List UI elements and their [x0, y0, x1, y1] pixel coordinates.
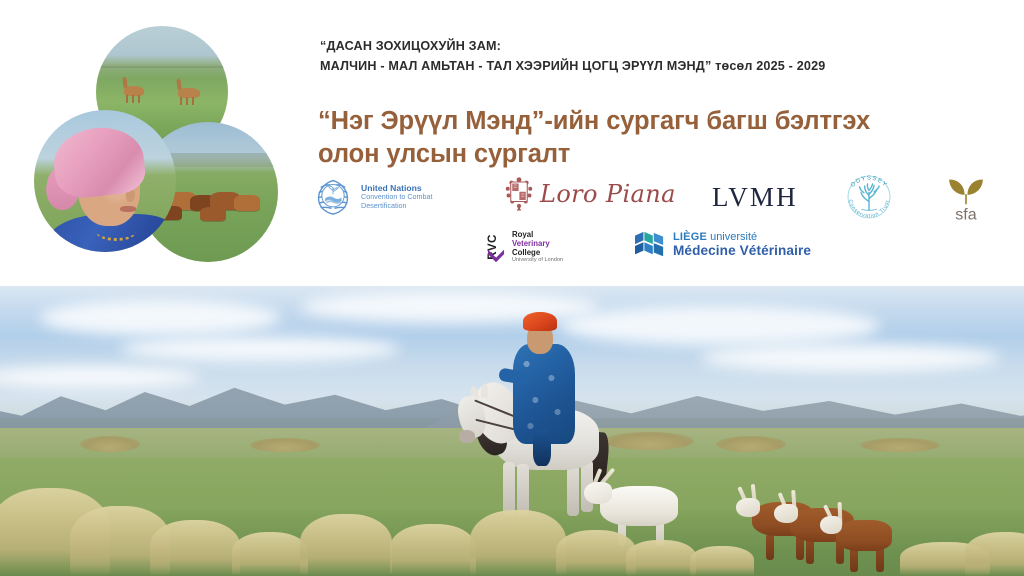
goat-head — [820, 516, 842, 534]
goat-leg — [766, 534, 774, 560]
page-title-line-1: “Нэг Эрүүл Мэнд”-ийн сургагч багш бэлтгэ… — [318, 107, 870, 135]
logo-rvc-line-1: Royal — [512, 230, 563, 239]
gazelle-icon — [124, 86, 144, 96]
grass-tuft — [232, 532, 308, 576]
partner-logos-row-1: United Nations Convention to Combat Dese… — [312, 168, 1012, 226]
lips — [120, 206, 136, 212]
grass-tuft — [470, 510, 566, 576]
logo-royal-veterinary-college: RVC Royal Veterinary College University … — [486, 230, 563, 264]
goat-head — [584, 482, 612, 504]
scrub-bush — [250, 438, 320, 452]
svg-text:sfa: sfa — [955, 206, 976, 224]
logo-rvc-line-4: University of London — [512, 257, 563, 263]
partner-logos-row-2: RVC Royal Veterinary College University … — [486, 226, 826, 272]
horse-leg — [517, 464, 529, 516]
logo-rvc-text: Royal Veterinary College University of L… — [512, 230, 563, 263]
horse-ear — [481, 384, 488, 398]
logo-lvmh-wordmark: LVMH — [712, 182, 798, 213]
logo-loro-piana-wordmark: Loro Piana — [540, 180, 676, 208]
kicker-line-2: МАЛЧИН - МАЛ АМЬТАН - ТАЛ ХЭЭРИЙН ЦОГЦ Э… — [320, 59, 711, 73]
grass-tuft — [965, 532, 1024, 576]
rider-red-headwrap — [523, 312, 557, 331]
horse-leg — [567, 462, 579, 516]
loro-piana-crest-icon — [504, 176, 534, 212]
logo-liege-universite: LIÈGE université Médecine Vétérinaire — [634, 230, 811, 260]
logo-liege-text: LIÈGE université Médecine Vétérinaire — [673, 231, 811, 260]
goat-head — [736, 498, 760, 517]
rider-blue-deel — [513, 344, 575, 444]
cow-icon — [234, 195, 260, 211]
logo-unccd: United Nations Convention to Combat Dese… — [312, 176, 433, 218]
grass-tuft — [556, 530, 636, 576]
scrub-bush — [716, 436, 786, 452]
necklace — [96, 222, 136, 241]
project-kicker: “ДАСАН ЗОХИЦОХУЙН ЗАМ: МАЛЧИН - МАЛ АМЬТ… — [320, 36, 960, 77]
scrub-bush — [80, 436, 140, 452]
cloud — [700, 344, 1000, 372]
logo-unccd-line-3: Desertification — [361, 202, 433, 211]
logo-liege-line-1: LIÈGE université — [673, 231, 811, 244]
page-title: “Нэг Эрүүл Мэнд”-ийн сургагч багш бэлтгэ… — [318, 105, 1008, 171]
collage-circle-herder-woman — [34, 110, 176, 252]
cloud — [120, 336, 400, 362]
page-title-line-2: олон улсын сургалт — [318, 140, 570, 168]
logo-liege-line-2: Médecine Vétérinaire — [673, 243, 811, 259]
svg-text:ODYSSEY: ODYSSEY — [850, 176, 888, 189]
hero-photo — [0, 286, 1024, 576]
cloud — [40, 300, 280, 336]
un-wreath-globe-icon — [312, 176, 354, 218]
goat-body — [836, 520, 892, 551]
cow-icon — [200, 207, 226, 221]
logo-unccd-text: United Nations Convention to Combat Dese… — [361, 183, 433, 211]
logo-sfa: sfa — [940, 170, 992, 224]
pink-headscarf — [51, 123, 148, 200]
logo-lvmh: LVMH — [712, 182, 798, 213]
logo-loro-piana: Loro Piana — [504, 176, 676, 212]
horizon-line — [96, 66, 228, 68]
white-goat — [600, 476, 710, 536]
liege-chevron-icon — [634, 230, 666, 260]
rvc-monogram-icon: RVC — [486, 230, 506, 264]
logo-odyssey-conservation-trust: ODYSSEY Conservation Trust — [840, 168, 898, 226]
logo-rvc-line-3: College — [512, 248, 563, 257]
kicker-line-1: “ДАСАН ЗОХИЦОХУЙН ЗАМ: — [320, 36, 960, 56]
goat-head — [774, 504, 798, 523]
kicker-line-2-wrap: МАЛЧИН - МАЛ АМЬТАН - ТАЛ ХЭЭРИЙН ЦОГЦ Э… — [320, 56, 960, 76]
grass-tuft — [150, 520, 240, 576]
header-banner: “ДАСАН ЗОХИЦОХУЙН ЗАМ: МАЛЧИН - МАЛ АМЬТ… — [0, 0, 1024, 286]
grass-tuft — [390, 524, 476, 576]
grass-tuft — [300, 514, 392, 576]
logo-rvc-line-2: Veterinary — [512, 239, 563, 248]
sfa-sprout-leaves-icon: sfa — [940, 170, 992, 224]
odyssey-coral-roundel-icon: ODYSSEY Conservation Trust — [840, 168, 898, 226]
scrub-bush — [860, 438, 940, 452]
brown-goat — [836, 510, 906, 560]
horse-leg — [503, 462, 515, 516]
rider-boot — [533, 430, 551, 466]
photo-collage — [34, 26, 246, 264]
logo-liege-city: LIÈGE — [673, 231, 707, 243]
grass-tuft — [626, 540, 696, 576]
horse-muzzle — [459, 430, 475, 443]
logo-liege-universite-word: université — [707, 231, 757, 243]
kicker-project-years: төсөл 2025 - 2029 — [715, 59, 825, 73]
grass-tuft — [690, 546, 754, 576]
gazelle-icon — [178, 88, 200, 98]
